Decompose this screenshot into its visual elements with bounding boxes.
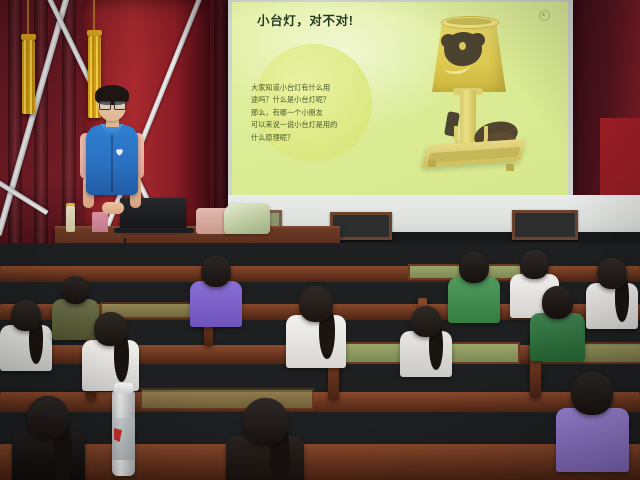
- volunteer-presenter: [78, 88, 144, 233]
- child-9: [586, 258, 638, 335]
- bench-row: [0, 444, 640, 480]
- slide-body-line: 途吗？什么是小台灯呢？: [251, 94, 387, 106]
- child-head: [571, 372, 613, 415]
- glasses-lens: [99, 101, 111, 110]
- wall-panel: [512, 210, 578, 240]
- child-head: [597, 258, 627, 289]
- child-4: [190, 256, 242, 333]
- lamp-shade-inner: [446, 18, 492, 25]
- child-head: [411, 306, 441, 337]
- hands: [102, 202, 124, 214]
- child-5: [286, 286, 346, 375]
- glasses-icon: [99, 101, 125, 108]
- child-13: [400, 306, 452, 383]
- child-head: [94, 312, 127, 346]
- child-head: [299, 286, 334, 322]
- slide-body-line: 什么原理呢？: [251, 132, 387, 144]
- bench-back-dark: [0, 412, 640, 448]
- curtain-fold: [34, 0, 48, 255]
- child-10: [556, 372, 629, 480]
- gold-tassel: [22, 40, 35, 114]
- volunteer-heart-badge: [114, 144, 125, 155]
- child-6: [448, 252, 500, 329]
- child-head: [243, 398, 288, 445]
- auditorium-photo: 小台灯，对不对! 大家知道小台灯有什么用 途吗？什么是小台灯呢？ 那么，有哪一个…: [0, 0, 640, 480]
- child-torso: [286, 315, 346, 368]
- slide-body-text: 大家知道小台灯有什么用 途吗？什么是小台灯呢？ 那么，有哪一个小朋友 可以来说一…: [251, 82, 387, 144]
- child-8: [530, 286, 585, 367]
- green-plastic-bag: [224, 204, 270, 234]
- presentation-slide: 小台灯，对不对! 大家知道小台灯有什么用 途吗？什么是小台灯呢？ 那么，有哪一个…: [232, 2, 568, 195]
- lamp-foot: [428, 160, 436, 167]
- child-head: [542, 286, 574, 319]
- water-bottle-cap: [114, 383, 133, 393]
- slide-body-line: 可以来说一说小台灯是用的: [251, 119, 387, 131]
- child-torso: [190, 281, 242, 327]
- child-torso: [448, 277, 500, 323]
- tassel-cord: [27, 0, 29, 34]
- child-torso: [400, 331, 452, 377]
- desk-lamp-illustration: [408, 14, 536, 186]
- circle-watermark-icon: [539, 10, 550, 21]
- child-head: [459, 252, 489, 283]
- child-head: [11, 300, 41, 331]
- child-torso: [556, 408, 629, 472]
- child-head: [201, 256, 231, 287]
- child-torso: [530, 313, 585, 361]
- child-head: [520, 250, 549, 279]
- glasses-lens: [114, 101, 126, 110]
- lamp-decor-nose: [459, 42, 466, 50]
- child-head: [62, 276, 89, 304]
- child-1: [0, 300, 52, 377]
- child-head: [27, 396, 69, 439]
- lamp-foot: [506, 164, 514, 171]
- slide-body-line: 那么，有哪一个小朋友: [251, 107, 387, 119]
- vest-zipper: [111, 130, 113, 192]
- child-12: [12, 396, 85, 480]
- curtain-fold: [8, 0, 22, 255]
- slide-body-line: 大家知道小台灯有什么用: [251, 82, 387, 94]
- child-11: [226, 398, 304, 480]
- slide-title: 小台灯，对不对!: [257, 10, 353, 29]
- tassel-cord: [93, 0, 95, 30]
- drink-bottle: [66, 206, 75, 232]
- child-torso: [586, 283, 638, 329]
- child-torso: [0, 325, 52, 371]
